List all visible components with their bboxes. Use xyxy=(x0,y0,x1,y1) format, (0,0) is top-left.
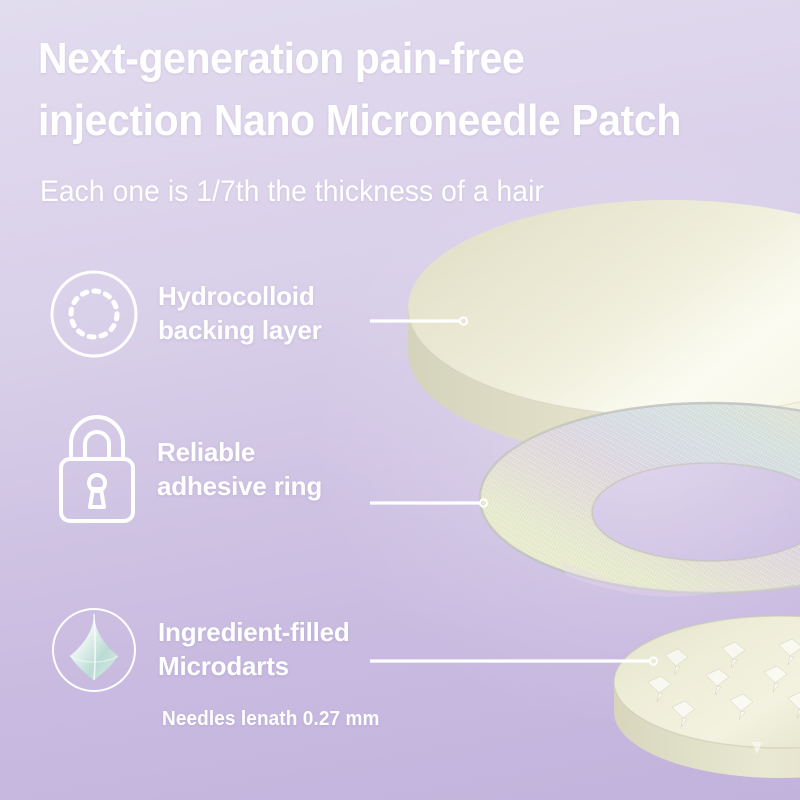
feature-label-line-1: Reliable xyxy=(157,436,322,470)
feature-label: Hydrocolloid backing layer xyxy=(158,280,322,348)
headline-line-2: injection Nano Microneedle Patch xyxy=(38,90,726,152)
layer-microdart-disc xyxy=(614,616,800,778)
leader-line-adhesive xyxy=(370,496,490,510)
leader-line-backing xyxy=(370,314,470,328)
page-subtitle: Each one is 1/7th the thickness of a hai… xyxy=(40,175,544,209)
needle-length-caption: Needles lenath 0.27 mm xyxy=(162,708,380,731)
feature-hydrocolloid-backing: Hydrocolloid backing layer xyxy=(48,268,322,360)
feature-adhesive-ring: Reliable adhesive ring xyxy=(55,415,322,525)
leader-line-microdarts xyxy=(370,654,660,668)
feature-label-line-1: Hydrocolloid xyxy=(158,280,322,314)
feature-label-line-2: adhesive ring xyxy=(157,470,322,504)
dashed-circle-icon xyxy=(48,268,140,360)
poster-canvas: Next-generation pain-free injection Nano… xyxy=(0,0,800,800)
microdart-icon xyxy=(48,604,140,696)
headline-line-1: Next-generation pain-free xyxy=(38,28,726,90)
feature-label: Reliable adhesive ring xyxy=(157,436,322,504)
padlock-icon xyxy=(55,415,139,525)
page-title: Next-generation pain-free injection Nano… xyxy=(38,28,726,153)
layer-backing-disc xyxy=(408,200,800,460)
microdart xyxy=(665,649,688,675)
feature-label: Ingredient-filled Microdarts xyxy=(158,616,350,684)
feature-microdarts: Ingredient-filled Microdarts xyxy=(48,604,350,696)
feature-label-line-1: Ingredient-filled xyxy=(158,616,350,650)
feature-label-line-2: backing layer xyxy=(158,314,322,348)
layer-adhesive-ring xyxy=(480,403,800,597)
feature-label-line-2: Microdarts xyxy=(158,650,350,684)
